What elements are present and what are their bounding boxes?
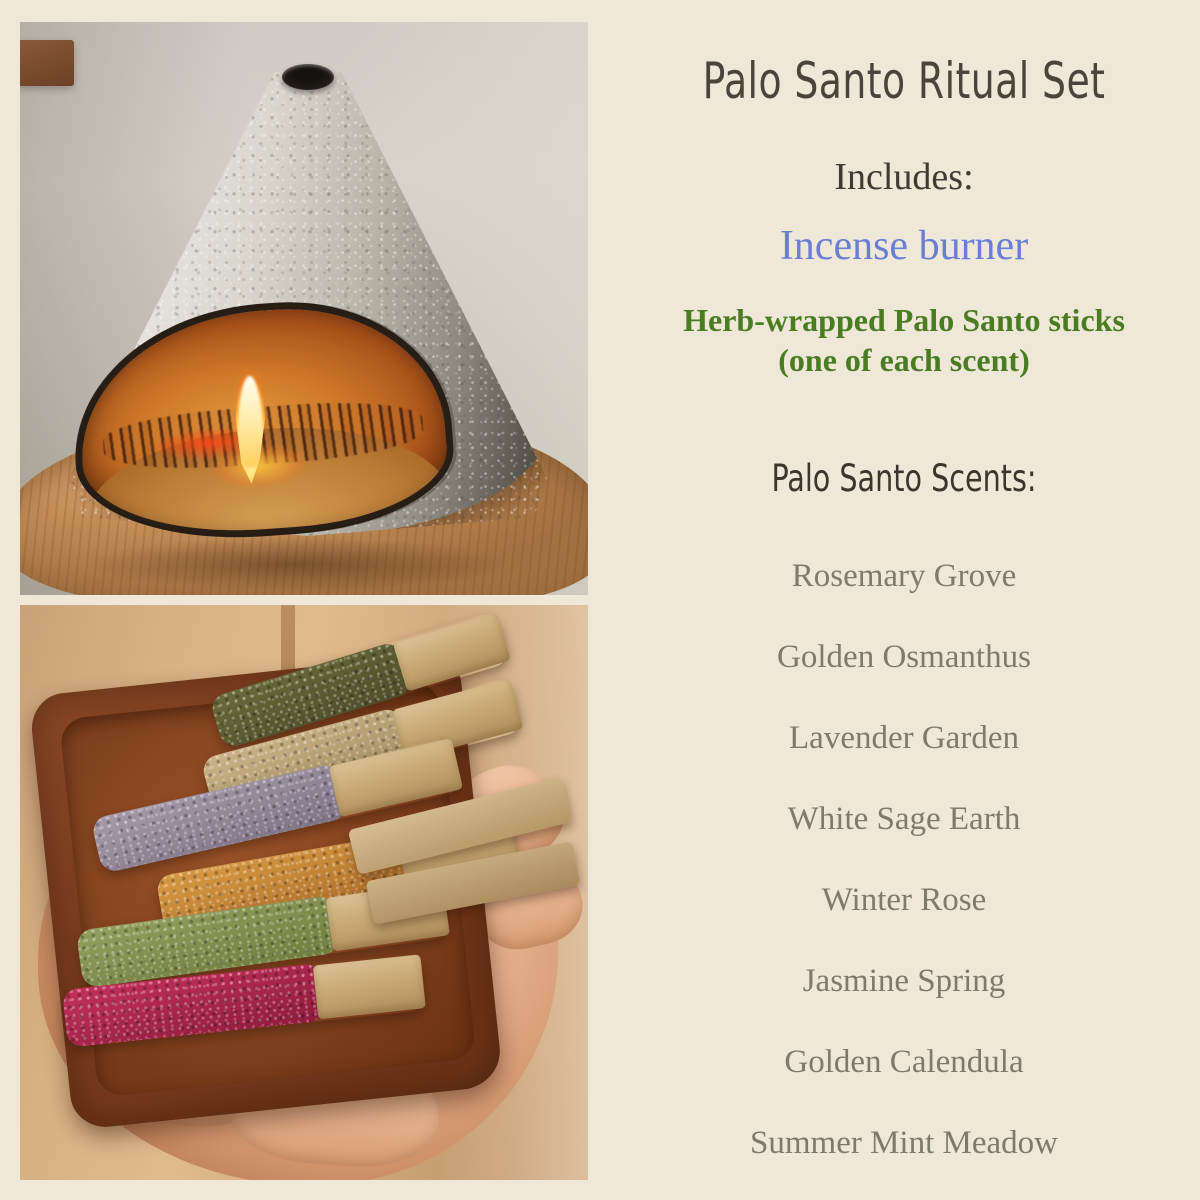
product-details-column: Palo Santo Ritual Set Includes: Incense … [608,0,1200,1200]
photo-palo-santo-sticks [20,605,588,1180]
infographic-canvas: Palo Santo Ritual Set Includes: Incense … [0,0,1200,1200]
photo-incense-burner [20,22,588,595]
scent-item: Winter Rose [608,860,1200,941]
cone-burner [68,68,548,536]
scent-list: Rosemary Grove Golden Osmanthus Lavender… [608,536,1200,1184]
burner-shadow [80,537,510,591]
scent-item: Summer Mint Meadow [608,1103,1200,1184]
sticks-line-secondary: (one of each scent) [608,340,1200,380]
included-item-palo-santo-sticks: Herb-wrapped Palo Santo sticks (one of e… [608,300,1200,380]
scent-item: White Sage Earth [608,779,1200,860]
scent-item: Lavender Garden [608,698,1200,779]
wood-beam [20,40,74,86]
sticks-line-primary: Herb-wrapped Palo Santo sticks [608,300,1200,340]
flame-core [237,375,265,467]
scent-item: Rosemary Grove [608,536,1200,617]
scent-item: Golden Osmanthus [608,617,1200,698]
included-item-incense-burner: Incense burner [608,222,1200,270]
scent-item: Jasmine Spring [608,941,1200,1022]
cone-smoke-hole [282,64,334,90]
palo-santo-wood [313,955,426,1019]
scent-item: Golden Calendula [608,1022,1200,1103]
includes-label: Includes: [608,155,1200,199]
scents-heading: Palo Santo Scents: [649,457,1158,500]
page-title: Palo Santo Ritual Set [655,52,1152,110]
